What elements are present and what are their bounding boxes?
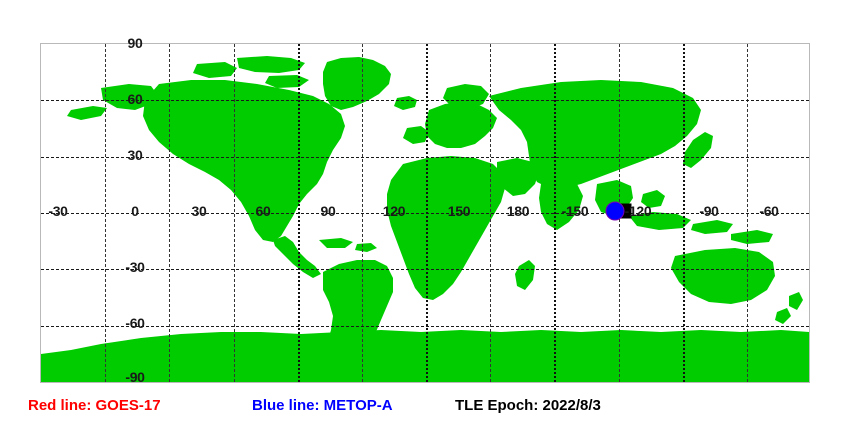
lon-label-90: 90 (321, 203, 336, 219)
legend-blue-line: Blue line: METOP-A (252, 397, 393, 414)
lon-label--60: -60 (759, 203, 778, 219)
lon-label-150: 150 (448, 203, 470, 219)
lat-label-90: 90 (128, 35, 143, 51)
legend-tle-epoch: TLE Epoch: 2022/8/3 (455, 397, 601, 414)
lat-label--60: -60 (125, 315, 144, 331)
world-landmass-layer (41, 44, 809, 382)
legend-footer: Red line: GOES-17 Blue line: METOP-A TLE… (0, 392, 850, 425)
map-clip (41, 44, 809, 382)
lon-label-120: 120 (383, 203, 405, 219)
world-map-panel[interactable]: -30 0 30 60 90 120 150 180 -150 -120 -90… (40, 43, 810, 383)
lat-label--30: -30 (125, 259, 144, 275)
lon-label-60: 60 (256, 203, 271, 219)
lon-label--90: -90 (699, 203, 718, 219)
satellite-ground-track-page: -30 0 30 60 90 120 150 180 -150 -120 -90… (0, 0, 850, 425)
legend-red-line: Red line: GOES-17 (28, 397, 161, 414)
satellite-marker-metop-a[interactable] (606, 202, 625, 221)
lat-label-30: 30 (128, 147, 143, 163)
lon-label--30: -30 (48, 203, 67, 219)
lon-label--150: -150 (562, 203, 589, 219)
lat-label--90: -90 (125, 369, 144, 385)
lon-label-30: 30 (192, 203, 207, 219)
lon-label-0: 0 (131, 203, 139, 219)
lon-label--120: -120 (625, 203, 652, 219)
lat-label-60: 60 (128, 91, 143, 107)
lon-label-180: 180 (507, 203, 529, 219)
